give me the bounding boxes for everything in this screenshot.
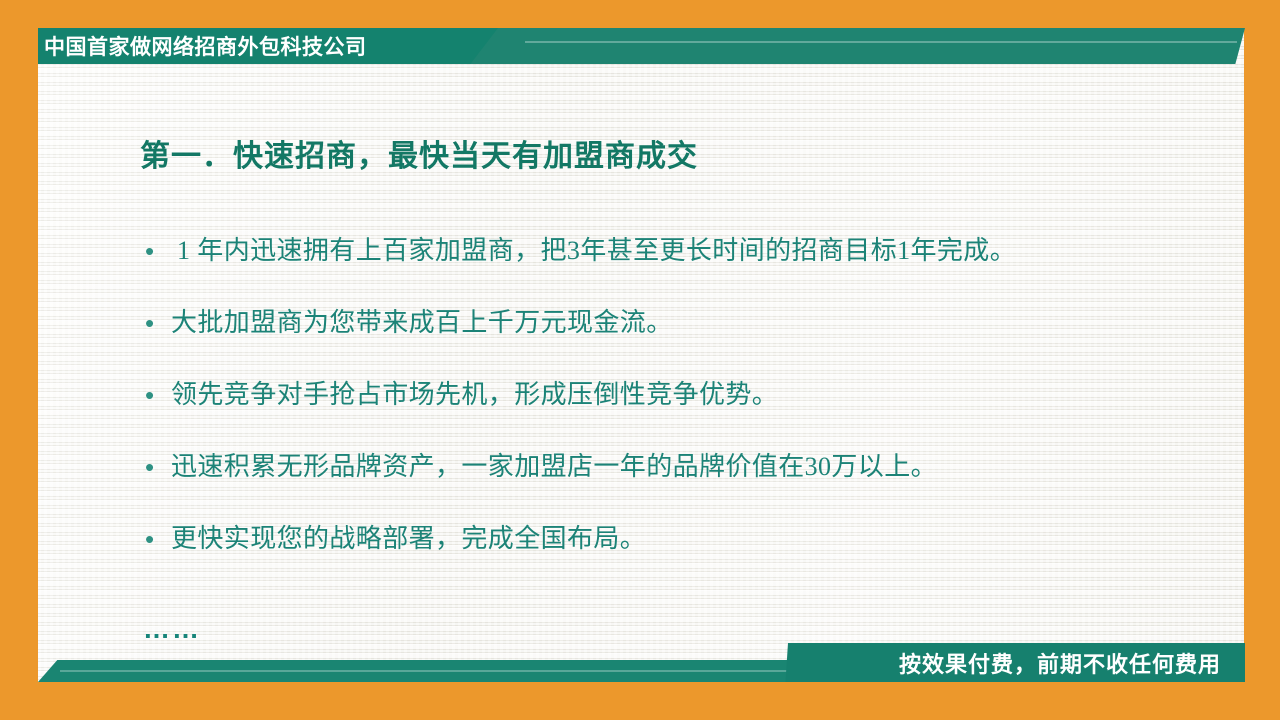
bullet-list: • 1 年内迅速拥有上百家加盟商，把3年甚至更长时间的招商目标1年完成。 • 大…	[141, 234, 1221, 594]
header-hairline	[525, 41, 1237, 43]
orange-border-top	[0, 0, 1280, 28]
orange-border-right	[1244, 0, 1280, 720]
ellipsis-text: ……	[143, 614, 201, 644]
list-item-label: 迅速积累无形品牌资产，一家加盟店一年的品牌价值在30万以上。	[171, 450, 1221, 484]
list-item-label: 大批加盟商为您带来成百上千万元现金流。	[171, 306, 1221, 340]
footer-note: 按效果付费，前期不收任何费用	[740, 643, 1235, 682]
list-item: • 1 年内迅速拥有上百家加盟商，把3年甚至更长时间的招商目标1年完成。	[141, 234, 1221, 268]
list-item-label: 1 年内迅速拥有上百家加盟商，把3年甚至更长时间的招商目标1年完成。	[171, 234, 1221, 268]
list-item: • 更快实现您的战略部署，完成全国布局。	[141, 522, 1221, 556]
bullet-marker-icon: •	[141, 234, 171, 268]
page-title: 第一．快速招商，最快当天有加盟商成交	[140, 131, 698, 175]
orange-border-left	[0, 0, 38, 720]
orange-border-bottom	[0, 682, 1280, 720]
bullet-marker-icon: •	[141, 306, 171, 340]
list-item: • 领先竞争对手抢占市场先机，形成压倒性竞争优势。	[141, 378, 1221, 412]
bullet-marker-icon: •	[141, 378, 171, 412]
list-item-label: 更快实现您的战略部署，完成全国布局。	[171, 522, 1221, 556]
header-title: 中国首家做网络招商外包科技公司	[38, 28, 498, 64]
bullet-marker-icon: •	[141, 522, 171, 556]
bullet-marker-icon: •	[141, 450, 171, 484]
list-item: • 大批加盟商为您带来成百上千万元现金流。	[141, 306, 1221, 340]
slide-canvas: 中国首家做网络招商外包科技公司 第一．快速招商，最快当天有加盟商成交 • 1 年…	[0, 0, 1280, 720]
list-item: • 迅速积累无形品牌资产，一家加盟店一年的品牌价值在30万以上。	[141, 450, 1221, 484]
list-item-label: 领先竞争对手抢占市场先机，形成压倒性竞争优势。	[171, 378, 1221, 412]
